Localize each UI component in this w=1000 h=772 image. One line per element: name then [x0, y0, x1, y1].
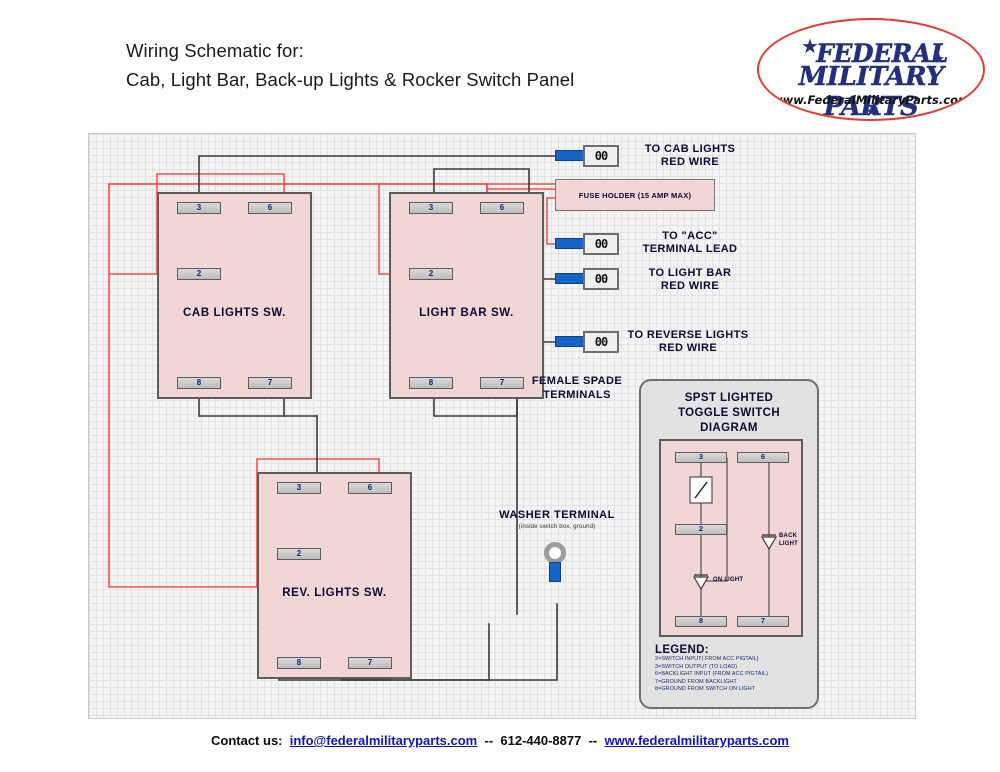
label-line-2: RED WIRE	[625, 280, 755, 293]
label-line-1: TO CAB LIGHTS	[625, 143, 755, 156]
terminal-7: 7	[348, 657, 392, 669]
spade-body: 00	[583, 268, 619, 290]
terminal-2: 2	[177, 268, 221, 280]
on-light-led-icon	[694, 575, 708, 589]
page-title: Wiring Schematic for: Cab, Light Bar, Ba…	[126, 36, 686, 94]
label-line-1: TO REVERSE LIGHTS	[613, 329, 763, 342]
spst-title: SPST LIGHTED TOGGLE SWITCH DIAGRAM	[641, 391, 817, 436]
legend-item: 6=BACKLIGHT INPUT (FROM ACC PIGTAIL)	[655, 671, 815, 679]
label-to-light-bar: TO LIGHT BAR RED WIRE	[625, 267, 755, 293]
washer-terminal: WASHER TERMINAL (inside switch box, grou…	[487, 509, 627, 530]
terminal-3: 3	[277, 482, 321, 494]
spade-terminal-light-bar: 00	[555, 268, 619, 290]
light-bar-switch-label: LIGHT BAR SW.	[391, 307, 542, 319]
footer-website-link[interactable]: www.federalmilitaryparts.com	[605, 733, 789, 748]
spade-terminal-reverse-lights: 00	[555, 331, 619, 353]
footer-contact: Contact us: info@federalmilitaryparts.co…	[0, 733, 1000, 748]
logo-url: www.FederalMilitaryParts.com	[759, 93, 983, 107]
label-line-1: TO "ACC"	[625, 230, 755, 243]
back-light-label-line-1: BACK	[779, 533, 798, 541]
ring-terminal-barrel	[549, 562, 561, 582]
terminal-8: 8	[277, 657, 321, 669]
label-line-2: TERMINAL LEAD	[625, 243, 755, 256]
legend-item: 7=GROUND FROM BACKLIGHT	[655, 679, 815, 687]
light-bar-switch: 3 6 2 LIGHT BAR SW. 8 7	[389, 192, 544, 399]
federal-military-parts-logo: ★ ★ ★ FEDERAL MILITARY PARTS www.Federal…	[757, 18, 985, 121]
legend-item: 8=GROUND FROM SWITCH ON LIGHT	[655, 686, 815, 694]
terminal-7: 7	[248, 377, 292, 389]
spst-lighted-toggle-switch-diagram: SPST LIGHTED TOGGLE SWITCH DIAGRAM	[639, 379, 819, 709]
terminal-7: 7	[480, 377, 524, 389]
fuse-holder: FUSE HOLDER (15 AMP MAX)	[555, 179, 715, 211]
footer-separator: --	[589, 733, 598, 748]
terminal-6: 6	[248, 202, 292, 214]
terminal-6: 6	[348, 482, 392, 494]
cab-lights-switch: 3 6 2 CAB LIGHTS SW. 8 7	[157, 192, 312, 399]
spade-body: 00	[583, 145, 619, 167]
footer-email-link[interactable]: info@federalmilitaryparts.com	[290, 733, 478, 748]
terminal-3: 3	[409, 202, 453, 214]
washer-terminal-subtitle: (inside switch box, ground)	[487, 524, 627, 530]
schematic-canvas: 3 6 2 CAB LIGHTS SW. 8 7 3 6 2 LIGHT BAR…	[88, 133, 916, 719]
terminal-3: 3	[177, 202, 221, 214]
back-light-label-line-2: LIGHT	[779, 541, 798, 549]
terminal-6: 6	[480, 202, 524, 214]
terminal-8: 8	[409, 377, 453, 389]
spst-title-line-1: SPST LIGHTED	[641, 391, 817, 406]
terminal-2: 2	[277, 548, 321, 560]
spade-body: 00	[583, 233, 619, 255]
legend-item: 2=SWITCH INPUT( FROM ACC PIGTAIL)	[655, 656, 815, 664]
washer-terminal-title: WASHER TERMINAL	[487, 509, 627, 521]
rev-lights-switch-label: REV. LIGHTS SW.	[259, 587, 410, 599]
rev-lights-switch: 3 6 2 REV. LIGHTS SW. 8 7	[257, 472, 412, 679]
spade-terminal-acc: 00	[555, 233, 619, 255]
logo-line-2: MILITARY PARTS	[759, 62, 983, 121]
title-line-2: Cab, Light Bar, Back-up Lights & Rocker …	[126, 65, 686, 94]
label-to-cab-lights: TO CAB LIGHTS RED WIRE	[625, 143, 755, 169]
spade-terminal-cab-lights: 00	[555, 145, 619, 167]
label-line-1: TO LIGHT BAR	[625, 267, 755, 280]
legend: LEGEND: 2=SWITCH INPUT( FROM ACC PIGTAIL…	[655, 644, 815, 694]
footer-phone: 612-440-8877	[500, 733, 581, 748]
female-spade-terminals-caption: FEMALE SPADE TERMINALS	[527, 374, 627, 402]
label-to-reverse-lights: TO REVERSE LIGHTS RED WIRE	[613, 329, 763, 355]
title-line-1: Wiring Schematic for:	[126, 36, 686, 65]
spst-title-line-2: TOGGLE SWITCH	[641, 406, 817, 421]
spst-terminal-2: 2	[675, 524, 727, 535]
terminal-2: 2	[409, 268, 453, 280]
footer-prefix: Contact us:	[211, 733, 283, 748]
spst-terminal-7: 7	[737, 616, 789, 627]
spst-terminal-6: 6	[737, 452, 789, 463]
spst-terminal-8: 8	[675, 616, 727, 627]
on-light-label: ON LIGHT	[713, 577, 743, 585]
back-light-led-icon	[762, 535, 776, 549]
terminal-8: 8	[177, 377, 221, 389]
spst-switch-body: 3 6 2 8 7 ON LIGHT BACK LIGHT	[659, 439, 803, 637]
footer-separator: --	[484, 733, 493, 748]
back-light-label: BACK LIGHT	[779, 533, 798, 548]
schematic-page: Wiring Schematic for: Cab, Light Bar, Ba…	[0, 0, 1000, 772]
legend-heading: LEGEND:	[655, 644, 815, 656]
cab-lights-switch-label: CAB LIGHTS SW.	[159, 307, 310, 319]
ring-terminal-icon	[544, 542, 566, 564]
label-to-acc: TO "ACC" TERMINAL LEAD	[625, 230, 755, 256]
label-line-2: RED WIRE	[613, 342, 763, 355]
spst-title-line-3: DIAGRAM	[641, 421, 817, 436]
label-line-2: RED WIRE	[625, 156, 755, 169]
spst-terminal-3: 3	[675, 452, 727, 463]
legend-item: 3=SWITCH OUTPUT (TO LOAD)	[655, 664, 815, 672]
